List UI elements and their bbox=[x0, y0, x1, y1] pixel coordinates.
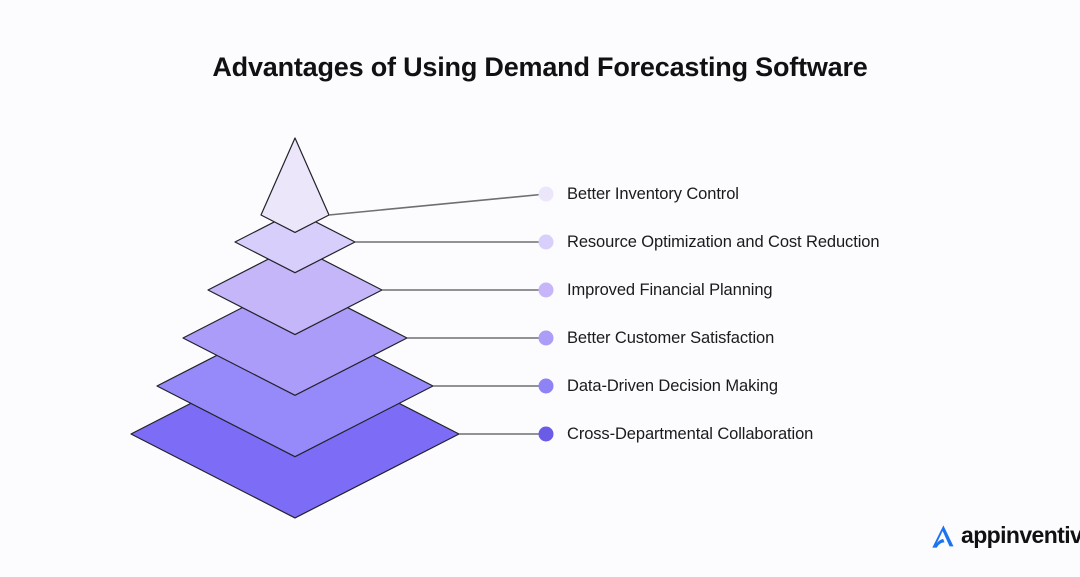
connector-dot-group bbox=[539, 187, 554, 442]
appinventiv-a-mark-icon bbox=[928, 521, 958, 551]
connector-dot-2[interactable] bbox=[539, 235, 554, 250]
pyramid-layer-1[interactable] bbox=[261, 138, 329, 232]
legend-item-4[interactable]: Better Customer Satisfaction bbox=[567, 326, 774, 350]
legend-item-3[interactable]: Improved Financial Planning bbox=[567, 278, 773, 302]
legend-item-label: Better Inventory Control bbox=[567, 185, 739, 204]
legend-label-column: Better Inventory ControlResource Optimiz… bbox=[567, 0, 1037, 577]
legend-item-2[interactable]: Resource Optimization and Cost Reduction bbox=[567, 230, 879, 254]
legend-item-label: Resource Optimization and Cost Reduction bbox=[567, 233, 879, 252]
legend-item-5[interactable]: Data-Driven Decision Making bbox=[567, 374, 778, 398]
connector-dot-6[interactable] bbox=[539, 427, 554, 442]
legend-item-label: Better Customer Satisfaction bbox=[567, 329, 774, 348]
brand-name: appinventiv bbox=[961, 524, 1080, 549]
connector-dot-5[interactable] bbox=[539, 379, 554, 394]
brand-logo: appinventiv bbox=[928, 521, 1080, 551]
legend-item-label: Cross-Departmental Collaboration bbox=[567, 425, 813, 444]
connector-dot-3[interactable] bbox=[539, 283, 554, 298]
infographic-canvas: Advantages of Using Demand Forecasting S… bbox=[0, 0, 1080, 577]
legend-item-1[interactable]: Better Inventory Control bbox=[567, 182, 739, 206]
connector-dot-1[interactable] bbox=[539, 187, 554, 202]
connector-dot-4[interactable] bbox=[539, 331, 554, 346]
connector-line-1 bbox=[329, 194, 546, 215]
legend-item-label: Data-Driven Decision Making bbox=[567, 377, 778, 396]
pyramid-layer-group bbox=[131, 138, 459, 518]
legend-item-6[interactable]: Cross-Departmental Collaboration bbox=[567, 422, 813, 446]
legend-item-label: Improved Financial Planning bbox=[567, 281, 773, 300]
